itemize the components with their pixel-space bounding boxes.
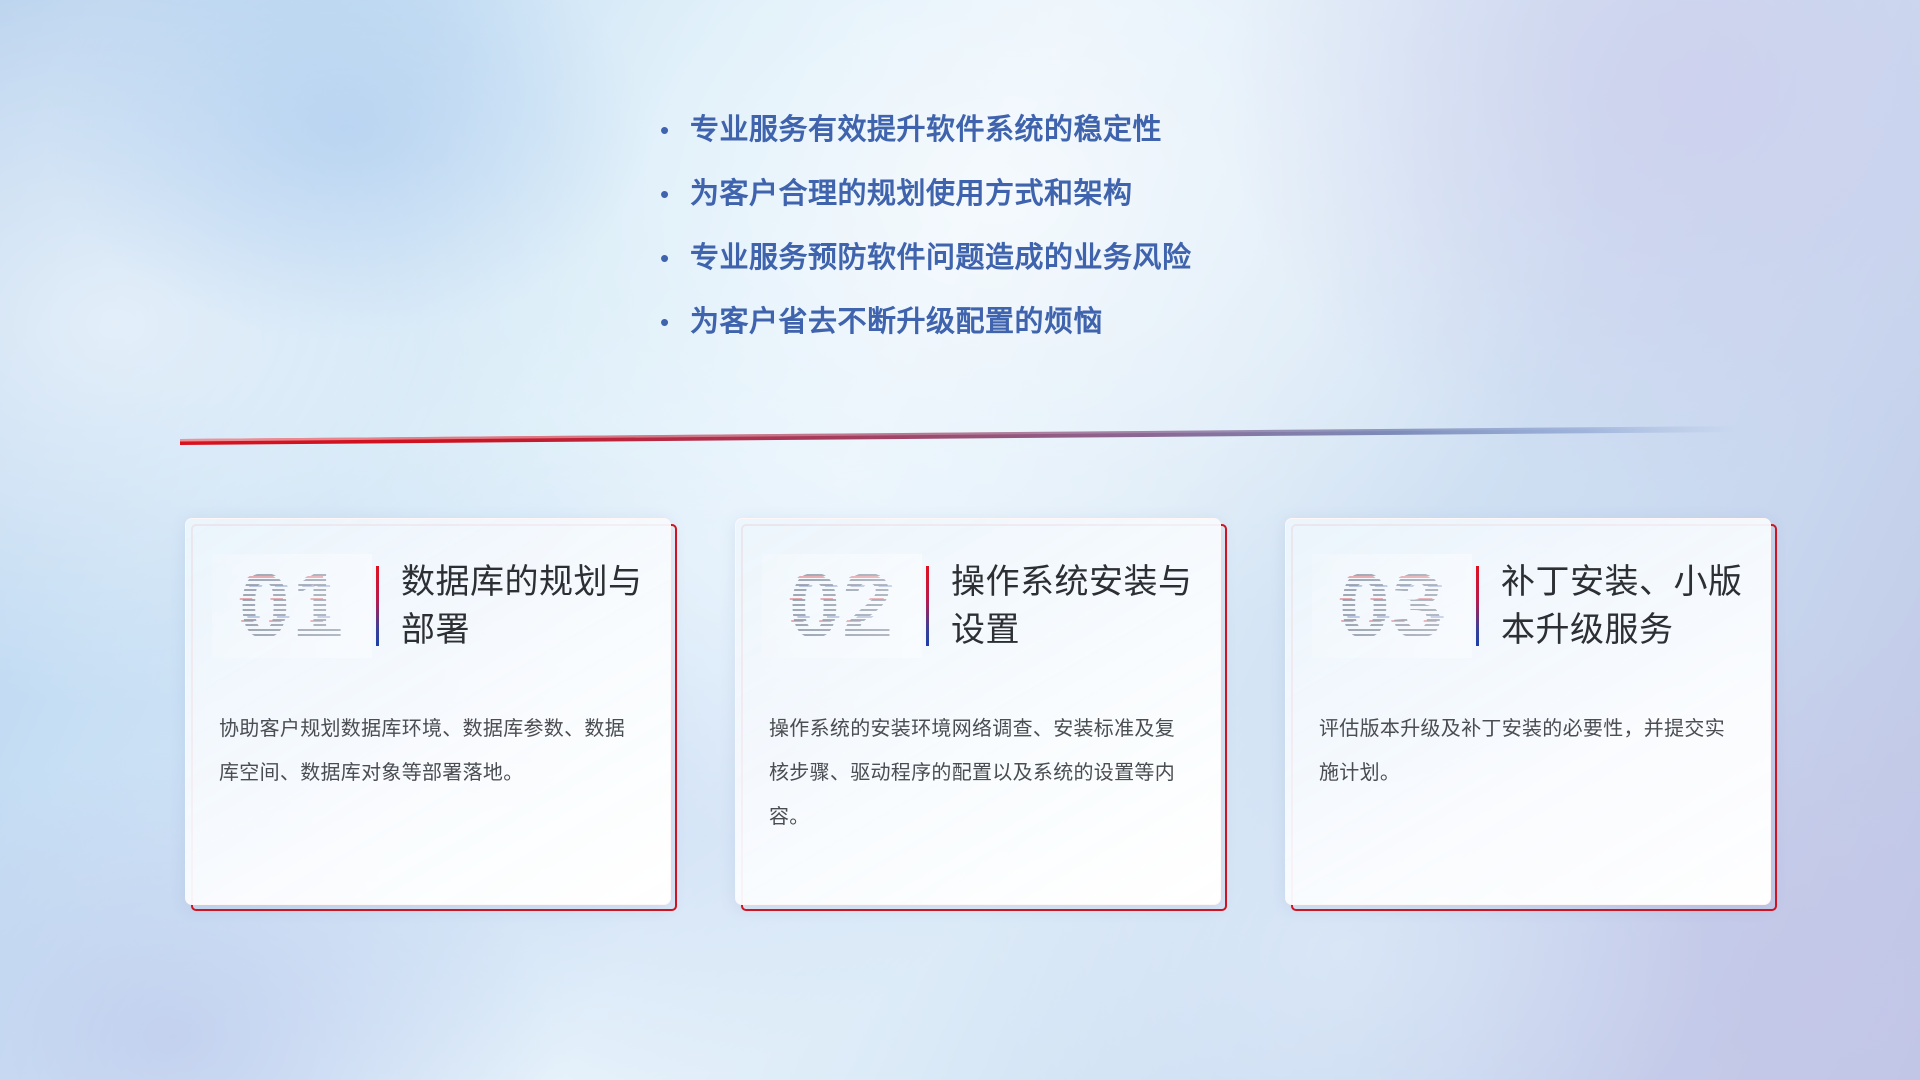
card-header: 03 03 03 补丁安装、小版本升级服务 <box>1286 541 1770 671</box>
bullet-text: 专业服务预防软件问题造成的业务风险 <box>690 238 1192 278</box>
card-title: 数据库的规划与部署 <box>401 558 670 654</box>
card-body-text: 评估版本升级及补丁安装的必要性，并提交实施计划。 <box>1319 707 1740 795</box>
card-body-text: 协助客户规划数据库环境、数据库参数、数据库空间、数据库对象等部署落地。 <box>219 707 640 795</box>
card-number-badge: 02 02 02 <box>762 554 922 658</box>
list-item: • 专业服务预防软件问题造成的业务风险 <box>660 238 1560 302</box>
card-number: 02 <box>762 554 922 658</box>
card-row: 01 01 01 数据库的规划与部署 协助客户规划数据库环境、数据库参数、数据库… <box>0 518 1920 938</box>
card-number: 03 <box>1312 554 1472 658</box>
card-title-divider <box>1476 566 1479 646</box>
bullet-text: 为客户省去不断升级配置的烦恼 <box>690 302 1103 342</box>
card-title-divider <box>376 566 379 646</box>
card-header: 02 02 02 操作系统安装与设置 <box>736 541 1220 671</box>
card-surface: 01 01 01 数据库的规划与部署 协助客户规划数据库环境、数据库参数、数据库… <box>185 518 671 905</box>
list-item: • 专业服务有效提升软件系统的稳定性 <box>660 110 1560 174</box>
bullet-marker-icon: • <box>660 174 690 214</box>
card-surface: 02 02 02 操作系统安装与设置 操作系统的安装环境网络调查、安装标准及复核… <box>735 518 1221 905</box>
card-title: 操作系统安装与设置 <box>951 558 1220 654</box>
section-divider <box>180 420 1740 446</box>
bullet-list: • 专业服务有效提升软件系统的稳定性 • 为客户合理的规划使用方式和架构 • 专… <box>660 110 1560 366</box>
list-item: • 为客户合理的规划使用方式和架构 <box>660 174 1560 238</box>
bullet-marker-icon: • <box>660 302 690 342</box>
card-title: 补丁安装、小版本升级服务 <box>1501 558 1770 654</box>
card-number: 01 <box>212 554 372 658</box>
bullet-text: 专业服务有效提升软件系统的稳定性 <box>690 110 1162 150</box>
card-03[interactable]: 03 03 03 补丁安装、小版本升级服务 评估版本升级及补丁安装的必要性，并提… <box>1285 518 1777 911</box>
card-number-badge: 01 01 01 <box>212 554 372 658</box>
card-01[interactable]: 01 01 01 数据库的规划与部署 协助客户规划数据库环境、数据库参数、数据库… <box>185 518 677 911</box>
bullet-marker-icon: • <box>660 110 690 150</box>
card-header: 01 01 01 数据库的规划与部署 <box>186 541 670 671</box>
bullet-text: 为客户合理的规划使用方式和架构 <box>690 174 1133 214</box>
list-item: • 为客户省去不断升级配置的烦恼 <box>660 302 1560 366</box>
card-body-text: 操作系统的安装环境网络调查、安装标准及复核步骤、驱动程序的配置以及系统的设置等内… <box>769 707 1190 839</box>
card-number-badge: 03 03 03 <box>1312 554 1472 658</box>
card-surface: 03 03 03 补丁安装、小版本升级服务 评估版本升级及补丁安装的必要性，并提… <box>1285 518 1771 905</box>
bullet-marker-icon: • <box>660 238 690 278</box>
card-02[interactable]: 02 02 02 操作系统安装与设置 操作系统的安装环境网络调查、安装标准及复核… <box>735 518 1227 911</box>
card-title-divider <box>926 566 929 646</box>
